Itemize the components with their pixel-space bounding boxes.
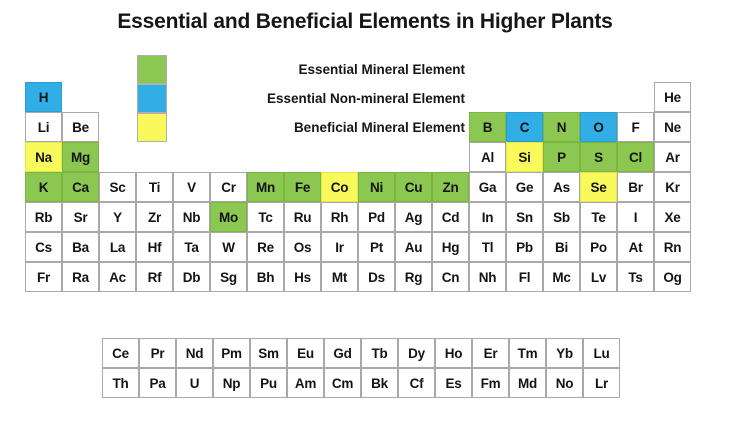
element-symbol: Li: [38, 120, 50, 135]
element-cell-v[interactable]: V: [173, 172, 210, 202]
element-cell-fr[interactable]: Fr: [25, 262, 62, 292]
element-cell-co[interactable]: Co: [321, 172, 358, 202]
element-symbol: Mo: [219, 210, 238, 225]
element-cell-as[interactable]: As: [543, 172, 580, 202]
element-cell-ds[interactable]: Ds: [358, 262, 395, 292]
element-symbol: Sg: [220, 270, 237, 285]
element-cell-cr[interactable]: Cr: [210, 172, 247, 202]
element-cell-ba[interactable]: Ba: [62, 232, 99, 262]
page-title: Essential and Beneficial Elements in Hig…: [0, 10, 730, 34]
element-symbol: La: [110, 240, 125, 255]
element-symbol: Rf: [148, 270, 162, 285]
element-symbol: C: [520, 120, 530, 135]
legend-row-essential-mineral: Essential Mineral Element: [137, 55, 467, 84]
element-cell-c[interactable]: C: [506, 112, 543, 142]
element-cell-pt[interactable]: Pt: [358, 232, 395, 262]
element-cell-nd[interactable]: Nd: [176, 338, 213, 368]
element-symbol: Tl: [482, 240, 494, 255]
element-symbol: Sb: [553, 210, 570, 225]
element-cell-mn[interactable]: Mn: [247, 172, 284, 202]
element-cell-li[interactable]: Li: [25, 112, 62, 142]
element-cell-mg[interactable]: Mg: [62, 142, 99, 172]
element-cell-hs[interactable]: Hs: [284, 262, 321, 292]
element-symbol: Zn: [442, 180, 458, 195]
element-symbol: Lv: [591, 270, 606, 285]
element-symbol: Br: [628, 180, 643, 195]
element-symbol: Np: [223, 376, 241, 391]
element-cell-ac[interactable]: Ac: [99, 262, 136, 292]
element-cell-sg[interactable]: Sg: [210, 262, 247, 292]
element-symbol: Sc: [109, 180, 125, 195]
element-symbol: Ti: [149, 180, 160, 195]
element-symbol: Co: [331, 180, 349, 195]
element-cell-rg[interactable]: Rg: [395, 262, 432, 292]
element-cell-y[interactable]: Y: [99, 202, 136, 232]
element-cell-mo[interactable]: Mo: [210, 202, 247, 232]
element-symbol: Lu: [593, 346, 609, 361]
element-cell-sr[interactable]: Sr: [62, 202, 99, 232]
element-cell-ra[interactable]: Ra: [62, 262, 99, 292]
element-symbol: No: [556, 376, 574, 391]
element-symbol: Cs: [35, 240, 52, 255]
element-cell-pu[interactable]: Pu: [250, 368, 287, 398]
element-cell-rn[interactable]: Rn: [654, 232, 691, 262]
element-cell-es[interactable]: Es: [435, 368, 472, 398]
element-symbol: Er: [484, 346, 498, 361]
element-symbol: Ne: [664, 120, 681, 135]
element-cell-os[interactable]: Os: [284, 232, 321, 262]
element-symbol: Fl: [519, 270, 531, 285]
element-symbol: At: [629, 240, 643, 255]
element-cell-sm[interactable]: Sm: [250, 338, 287, 368]
element-cell-f[interactable]: F: [617, 112, 654, 142]
element-symbol: Pm: [221, 346, 242, 361]
element-symbol: Cr: [221, 180, 236, 195]
element-symbol: Cm: [332, 376, 353, 391]
element-cell-fe[interactable]: Fe: [284, 172, 321, 202]
element-symbol: Fm: [481, 376, 501, 391]
element-symbol: Be: [72, 120, 89, 135]
element-symbol: Ni: [370, 180, 383, 195]
element-symbol: Gd: [333, 346, 351, 361]
element-symbol: Md: [518, 376, 537, 391]
element-symbol: In: [482, 210, 494, 225]
element-symbol: Am: [295, 376, 316, 391]
element-symbol: Tb: [371, 346, 387, 361]
periodic-table-main-block: HHeLiBeBCNOFNeNaMgAlSiPSClArKCaScTiVCrMn…: [25, 82, 698, 294]
element-cell-ar[interactable]: Ar: [654, 142, 691, 172]
element-symbol: Nd: [186, 346, 204, 361]
element-cell-u[interactable]: U: [176, 368, 213, 398]
element-cell-hf[interactable]: Hf: [136, 232, 173, 262]
element-cell-ni[interactable]: Ni: [358, 172, 395, 202]
element-symbol: Rh: [331, 210, 349, 225]
element-symbol: Db: [183, 270, 201, 285]
element-cell-ir[interactable]: Ir: [321, 232, 358, 262]
element-cell-na[interactable]: Na: [25, 142, 62, 172]
element-symbol: Cd: [442, 210, 460, 225]
element-cell-si[interactable]: Si: [506, 142, 543, 172]
element-cell-re[interactable]: Re: [247, 232, 284, 262]
element-symbol: I: [634, 210, 638, 225]
element-cell-fl[interactable]: Fl: [506, 262, 543, 292]
element-cell-cm[interactable]: Cm: [324, 368, 361, 398]
element-symbol: Ar: [665, 150, 680, 165]
element-cell-pb[interactable]: Pb: [506, 232, 543, 262]
element-cell-b[interactable]: B: [469, 112, 506, 142]
element-symbol: Ho: [445, 346, 463, 361]
element-symbol: Xe: [664, 210, 680, 225]
element-cell-rf[interactable]: Rf: [136, 262, 173, 292]
element-symbol: Fe: [295, 180, 310, 195]
element-symbol: Nb: [183, 210, 201, 225]
element-symbol: Ds: [368, 270, 385, 285]
element-cell-db[interactable]: Db: [173, 262, 210, 292]
element-cell-dy[interactable]: Dy: [398, 338, 435, 368]
element-symbol: Eu: [297, 346, 314, 361]
element-cell-w[interactable]: W: [210, 232, 247, 262]
element-symbol: Kr: [665, 180, 680, 195]
element-cell-lr[interactable]: Lr: [583, 368, 620, 398]
element-symbol: Al: [481, 150, 494, 165]
element-cell-n[interactable]: N: [543, 112, 580, 142]
element-cell-ge[interactable]: Ge: [506, 172, 543, 202]
element-symbol: Mg: [71, 150, 90, 165]
element-symbol: Cu: [405, 180, 423, 195]
element-cell-se[interactable]: Se: [580, 172, 617, 202]
element-cell-pm[interactable]: Pm: [213, 338, 250, 368]
element-symbol: Rb: [35, 210, 53, 225]
element-symbol: Cl: [629, 150, 642, 165]
element-cell-bk[interactable]: Bk: [361, 368, 398, 398]
element-cell-k[interactable]: K: [25, 172, 62, 202]
element-symbol: U: [190, 376, 200, 391]
element-symbol: Pu: [260, 376, 277, 391]
element-symbol: Ta: [184, 240, 198, 255]
element-cell-br[interactable]: Br: [617, 172, 654, 202]
element-symbol: Bh: [257, 270, 275, 285]
element-cell-ta[interactable]: Ta: [173, 232, 210, 262]
element-cell-cd[interactable]: Cd: [432, 202, 469, 232]
element-cell-au[interactable]: Au: [395, 232, 432, 262]
element-symbol: Dy: [408, 346, 425, 361]
element-cell-ts[interactable]: Ts: [617, 262, 654, 292]
element-symbol: Re: [257, 240, 274, 255]
element-cell-be[interactable]: Be: [62, 112, 99, 142]
element-cell-in[interactable]: In: [469, 202, 506, 232]
element-cell-tb[interactable]: Tb: [361, 338, 398, 368]
element-symbol: H: [39, 90, 49, 105]
element-cell-md[interactable]: Md: [509, 368, 546, 398]
element-symbol: Ts: [628, 270, 642, 285]
element-cell-eu[interactable]: Eu: [287, 338, 324, 368]
element-symbol: Te: [591, 210, 605, 225]
element-symbol: Yb: [556, 346, 573, 361]
element-cell-al[interactable]: Al: [469, 142, 506, 172]
element-cell-og[interactable]: Og: [654, 262, 691, 292]
element-symbol: Es: [445, 376, 461, 391]
element-cell-th[interactable]: Th: [102, 368, 139, 398]
element-symbol: Pr: [151, 346, 165, 361]
element-cell-ti[interactable]: Ti: [136, 172, 173, 202]
element-cell-la[interactable]: La: [99, 232, 136, 262]
element-cell-o[interactable]: O: [580, 112, 617, 142]
element-cell-pr[interactable]: Pr: [139, 338, 176, 368]
element-cell-ho[interactable]: Ho: [435, 338, 472, 368]
element-symbol: As: [553, 180, 570, 195]
element-cell-sc[interactable]: Sc: [99, 172, 136, 202]
element-symbol: Rn: [664, 240, 682, 255]
element-symbol: Zr: [148, 210, 161, 225]
element-cell-np[interactable]: Np: [213, 368, 250, 398]
element-symbol: Bk: [371, 376, 388, 391]
element-symbol: V: [187, 180, 196, 195]
element-symbol: S: [594, 150, 603, 165]
element-cell-s[interactable]: S: [580, 142, 617, 172]
element-cell-h[interactable]: H: [25, 82, 62, 112]
element-cell-bi[interactable]: Bi: [543, 232, 580, 262]
element-cell-zn[interactable]: Zn: [432, 172, 469, 202]
element-cell-xe[interactable]: Xe: [654, 202, 691, 232]
element-cell-i[interactable]: I: [617, 202, 654, 232]
element-cell-po[interactable]: Po: [580, 232, 617, 262]
element-cell-pa[interactable]: Pa: [139, 368, 176, 398]
element-symbol: Th: [112, 376, 128, 391]
element-symbol: Mc: [552, 270, 570, 285]
element-symbol: Ge: [516, 180, 534, 195]
element-symbol: Hg: [442, 240, 460, 255]
element-symbol: Ga: [479, 180, 497, 195]
element-symbol: Hs: [294, 270, 311, 285]
element-symbol: Pa: [149, 376, 165, 391]
element-cell-yb[interactable]: Yb: [546, 338, 583, 368]
element-symbol: Au: [405, 240, 423, 255]
element-symbol: Mt: [332, 270, 347, 285]
element-cell-zr[interactable]: Zr: [136, 202, 173, 232]
element-cell-at[interactable]: At: [617, 232, 654, 262]
element-cell-lu[interactable]: Lu: [583, 338, 620, 368]
element-cell-hg[interactable]: Hg: [432, 232, 469, 262]
element-symbol: Pt: [370, 240, 383, 255]
element-symbol: Fr: [37, 270, 50, 285]
element-symbol: Ce: [112, 346, 129, 361]
element-symbol: Pd: [368, 210, 385, 225]
element-symbol: Sm: [258, 346, 279, 361]
element-cell-lv[interactable]: Lv: [580, 262, 617, 292]
element-cell-cu[interactable]: Cu: [395, 172, 432, 202]
element-cell-te[interactable]: Te: [580, 202, 617, 232]
element-symbol: Ca: [72, 180, 89, 195]
element-symbol: W: [222, 240, 235, 255]
element-cell-gd[interactable]: Gd: [324, 338, 361, 368]
element-cell-cl[interactable]: Cl: [617, 142, 654, 172]
element-cell-ce[interactable]: Ce: [102, 338, 139, 368]
element-cell-ga[interactable]: Ga: [469, 172, 506, 202]
element-symbol: Pb: [516, 240, 533, 255]
element-cell-mc[interactable]: Mc: [543, 262, 580, 292]
element-cell-no[interactable]: No: [546, 368, 583, 398]
element-symbol: Cf: [410, 376, 424, 391]
element-symbol: Ir: [335, 240, 344, 255]
element-symbol: Og: [663, 270, 681, 285]
element-cell-bh[interactable]: Bh: [247, 262, 284, 292]
element-symbol: F: [631, 120, 639, 135]
element-cell-tl[interactable]: Tl: [469, 232, 506, 262]
element-symbol: N: [557, 120, 567, 135]
element-symbol: Cn: [442, 270, 460, 285]
element-cell-p[interactable]: P: [543, 142, 580, 172]
element-symbol: K: [39, 180, 49, 195]
element-cell-am[interactable]: Am: [287, 368, 324, 398]
element-cell-ag[interactable]: Ag: [395, 202, 432, 232]
legend-swatch-essential-mineral: [137, 55, 167, 84]
element-symbol: B: [483, 120, 493, 135]
element-symbol: Na: [35, 150, 52, 165]
element-symbol: Y: [113, 210, 122, 225]
element-cell-mt[interactable]: Mt: [321, 262, 358, 292]
element-symbol: Mn: [256, 180, 275, 195]
periodic-table-f-block: CePrNdPmSmEuGdTbDyHoErTmYbLuThPaUNpPuAmC…: [102, 338, 624, 399]
element-cell-nh[interactable]: Nh: [469, 262, 506, 292]
element-cell-ru[interactable]: Ru: [284, 202, 321, 232]
element-symbol: Rg: [405, 270, 423, 285]
element-symbol: Hf: [148, 240, 162, 255]
element-symbol: Si: [518, 150, 530, 165]
element-cell-fm[interactable]: Fm: [472, 368, 509, 398]
element-symbol: Sr: [74, 210, 88, 225]
element-cell-kr[interactable]: Kr: [654, 172, 691, 202]
element-symbol: He: [664, 90, 681, 105]
element-cell-tc[interactable]: Tc: [247, 202, 284, 232]
element-symbol: O: [593, 120, 603, 135]
element-cell-nb[interactable]: Nb: [173, 202, 210, 232]
element-cell-rb[interactable]: Rb: [25, 202, 62, 232]
element-cell-rh[interactable]: Rh: [321, 202, 358, 232]
element-symbol: Tm: [518, 346, 538, 361]
element-cell-tm[interactable]: Tm: [509, 338, 546, 368]
element-cell-ca[interactable]: Ca: [62, 172, 99, 202]
element-symbol: Sn: [516, 210, 533, 225]
element-cell-er[interactable]: Er: [472, 338, 509, 368]
element-symbol: Ac: [109, 270, 126, 285]
element-cell-he[interactable]: He: [654, 82, 691, 112]
element-symbol: Ba: [72, 240, 89, 255]
element-cell-cn[interactable]: Cn: [432, 262, 469, 292]
element-symbol: Ru: [294, 210, 312, 225]
element-symbol: Os: [294, 240, 312, 255]
element-symbol: Bi: [555, 240, 568, 255]
element-cell-ne[interactable]: Ne: [654, 112, 691, 142]
legend-label: Essential Mineral Element: [167, 62, 467, 77]
element-symbol: Ag: [405, 210, 423, 225]
element-symbol: Tc: [258, 210, 272, 225]
element-cell-cs[interactable]: Cs: [25, 232, 62, 262]
element-symbol: Ra: [72, 270, 89, 285]
element-cell-cf[interactable]: Cf: [398, 368, 435, 398]
element-cell-sb[interactable]: Sb: [543, 202, 580, 232]
element-cell-pd[interactable]: Pd: [358, 202, 395, 232]
element-symbol: Po: [590, 240, 607, 255]
element-symbol: P: [557, 150, 566, 165]
element-symbol: Lr: [595, 376, 608, 391]
element-cell-sn[interactable]: Sn: [506, 202, 543, 232]
element-symbol: Se: [590, 180, 606, 195]
element-symbol: Nh: [479, 270, 497, 285]
